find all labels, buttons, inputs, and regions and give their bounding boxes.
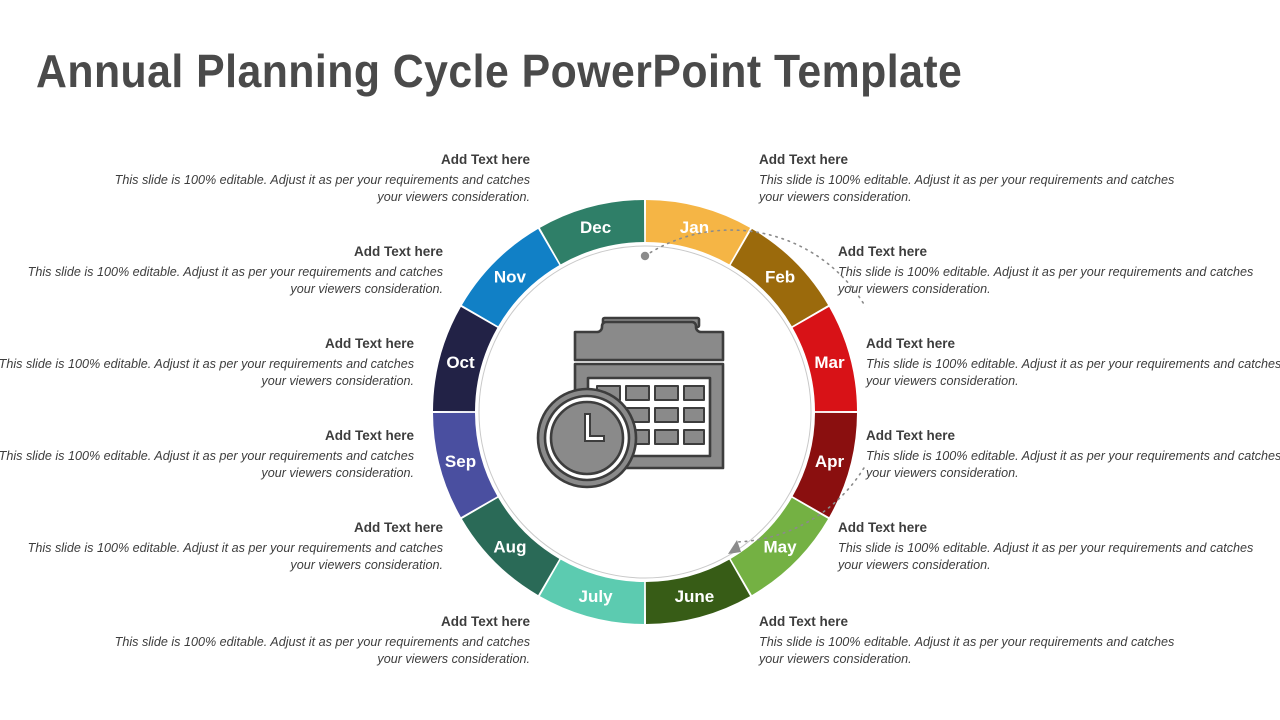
- callout-heading: Add Text here: [23, 244, 443, 261]
- callout-heading: Add Text here: [838, 520, 1258, 537]
- callout-heading: Add Text here: [110, 152, 530, 169]
- callout-heading: Add Text here: [23, 520, 443, 537]
- month-label-feb: Feb: [765, 267, 795, 286]
- callout-oct[interactable]: Add Text here This slide is 100% editabl…: [0, 336, 414, 390]
- month-label-july: July: [579, 587, 614, 606]
- month-label-may: May: [764, 538, 798, 557]
- clock-icon: [538, 389, 636, 487]
- month-label-nov: Nov: [494, 267, 527, 286]
- callout-feb[interactable]: Add Text here This slide is 100% editabl…: [838, 244, 1258, 298]
- callout-heading: Add Text here: [866, 336, 1280, 353]
- month-label-jan: Jan: [680, 218, 709, 237]
- callout-sep[interactable]: Add Text here This slide is 100% editabl…: [0, 428, 414, 482]
- callout-may[interactable]: Add Text here This slide is 100% editabl…: [838, 520, 1258, 574]
- callout-body: This slide is 100% editable. Adjust it a…: [838, 540, 1258, 574]
- callout-body: This slide is 100% editable. Adjust it a…: [0, 356, 414, 390]
- annual-cycle-wheel[interactable]: JanFebMarAprMayJuneJulyAugSepOctNovDec: [425, 192, 865, 632]
- callout-body: This slide is 100% editable. Adjust it a…: [866, 448, 1280, 482]
- page-title: Annual Planning Cycle PowerPoint Templat…: [36, 44, 962, 98]
- callout-body: This slide is 100% editable. Adjust it a…: [838, 264, 1258, 298]
- callout-body: This slide is 100% editable. Adjust it a…: [110, 634, 530, 668]
- callout-body: This slide is 100% editable. Adjust it a…: [23, 540, 443, 574]
- month-label-june: June: [675, 587, 715, 606]
- slide-canvas: Annual Planning Cycle PowerPoint Templat…: [0, 0, 1280, 720]
- callout-body: This slide is 100% editable. Adjust it a…: [866, 356, 1280, 390]
- month-label-aug: Aug: [493, 538, 526, 557]
- callout-heading: Add Text here: [0, 428, 414, 445]
- callout-nov[interactable]: Add Text here This slide is 100% editabl…: [23, 244, 443, 298]
- month-label-dec: Dec: [580, 218, 611, 237]
- month-label-oct: Oct: [446, 353, 475, 372]
- callout-heading: Add Text here: [759, 152, 1179, 169]
- month-label-apr: Apr: [815, 452, 845, 471]
- callout-body: This slide is 100% editable. Adjust it a…: [0, 448, 414, 482]
- callout-body: This slide is 100% editable. Adjust it a…: [23, 264, 443, 298]
- callout-heading: Add Text here: [866, 428, 1280, 445]
- callout-aug[interactable]: Add Text here This slide is 100% editabl…: [23, 520, 443, 574]
- callout-mar[interactable]: Add Text here This slide is 100% editabl…: [866, 336, 1280, 390]
- callout-heading: Add Text here: [0, 336, 414, 353]
- month-label-mar: Mar: [814, 353, 845, 372]
- callout-heading: Add Text here: [838, 244, 1258, 261]
- callout-apr[interactable]: Add Text here This slide is 100% editabl…: [866, 428, 1280, 482]
- arc-start-dot: [641, 252, 649, 260]
- callout-body: This slide is 100% editable. Adjust it a…: [759, 634, 1179, 668]
- month-label-sep: Sep: [445, 452, 476, 471]
